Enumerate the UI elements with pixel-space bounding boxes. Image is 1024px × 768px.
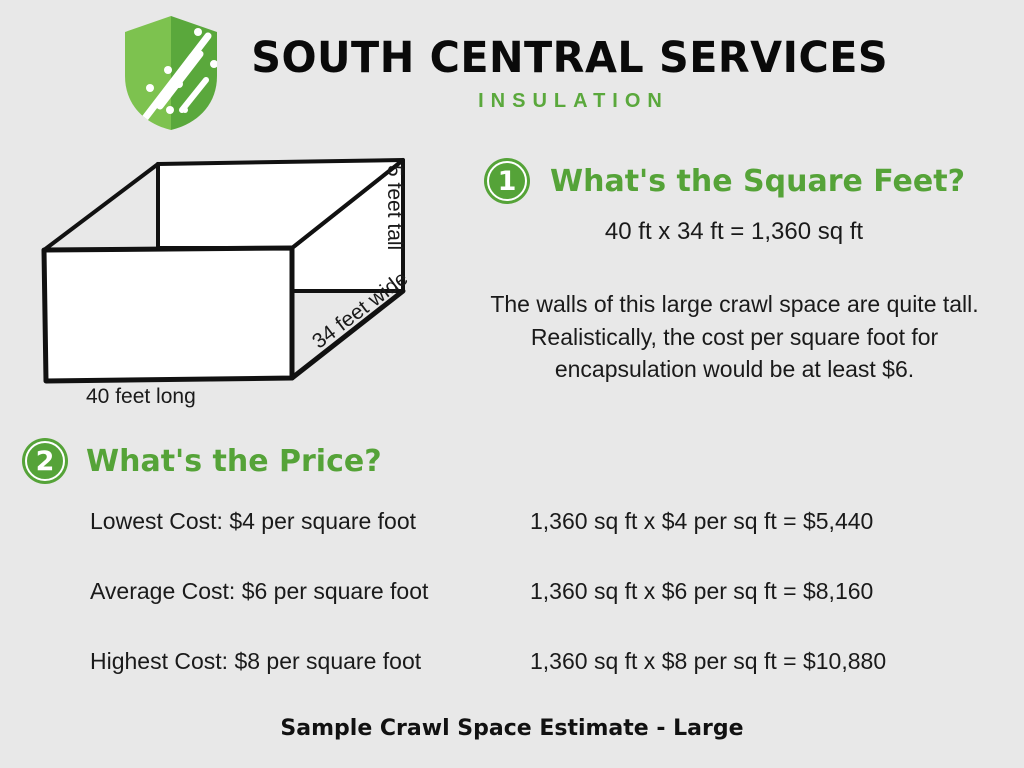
footer-caption: Sample Crawl Space Estimate - Large xyxy=(0,716,1024,741)
step-1-title: What's the Square Feet? xyxy=(550,164,965,199)
brand-header: SOUTH CENTRAL SERVICES INSULATION xyxy=(0,10,1024,135)
square-feet-formula: 40 ft x 34 ft = 1,360 sq ft xyxy=(484,218,984,246)
step-2-badge: 2 xyxy=(22,438,68,484)
brand-text: SOUTH CENTRAL SERVICES INSULATION xyxy=(238,33,901,113)
price-row-calculation: 1,360 sq ft x $4 per sq ft = $5,440 xyxy=(530,508,1010,535)
price-row-label: Highest Cost: $8 per square foot xyxy=(60,648,530,675)
brand-subtitle: INSULATION xyxy=(471,90,669,113)
step-1-badge-number: 1 xyxy=(498,168,517,195)
step-2-badge-number: 2 xyxy=(36,448,55,475)
box-top-left-edge xyxy=(44,164,158,250)
square-feet-note: The walls of this large crawl space are … xyxy=(462,288,1007,386)
step-2-heading: 2 What's the Price? xyxy=(22,438,382,484)
box-front-wall xyxy=(44,248,292,381)
table-row: Lowest Cost: $4 per square foot 1,360 sq… xyxy=(60,508,1010,578)
step-1-heading: 1 What's the Square Feet? xyxy=(484,158,965,204)
dimension-label-height: 5 feet tall xyxy=(382,165,406,250)
dimension-label-length: 40 feet long xyxy=(86,385,196,409)
table-row: Average Cost: $6 per square foot 1,360 s… xyxy=(60,578,1010,648)
step-1-badge: 1 xyxy=(484,158,530,204)
crawl-space-box-diagram: 40 feet long 5 feet tall 34 feet wide xyxy=(8,145,478,425)
price-row-label: Average Cost: $6 per square foot xyxy=(60,578,530,605)
brand-name: SOUTH CENTRAL SERVICES xyxy=(252,37,889,80)
shield-icon xyxy=(122,14,220,132)
price-row-calculation: 1,360 sq ft x $8 per sq ft = $10,880 xyxy=(530,648,1010,675)
price-row-calculation: 1,360 sq ft x $6 per sq ft = $8,160 xyxy=(530,578,1010,605)
step-2-title: What's the Price? xyxy=(86,444,382,479)
infographic-canvas: SOUTH CENTRAL SERVICES INSULATION 40 fee… xyxy=(0,0,1024,768)
price-row-label: Lowest Cost: $4 per square foot xyxy=(60,508,530,535)
table-row: Highest Cost: $8 per square foot 1,360 s… xyxy=(60,648,1010,718)
price-table: Lowest Cost: $4 per square foot 1,360 sq… xyxy=(60,508,1010,718)
